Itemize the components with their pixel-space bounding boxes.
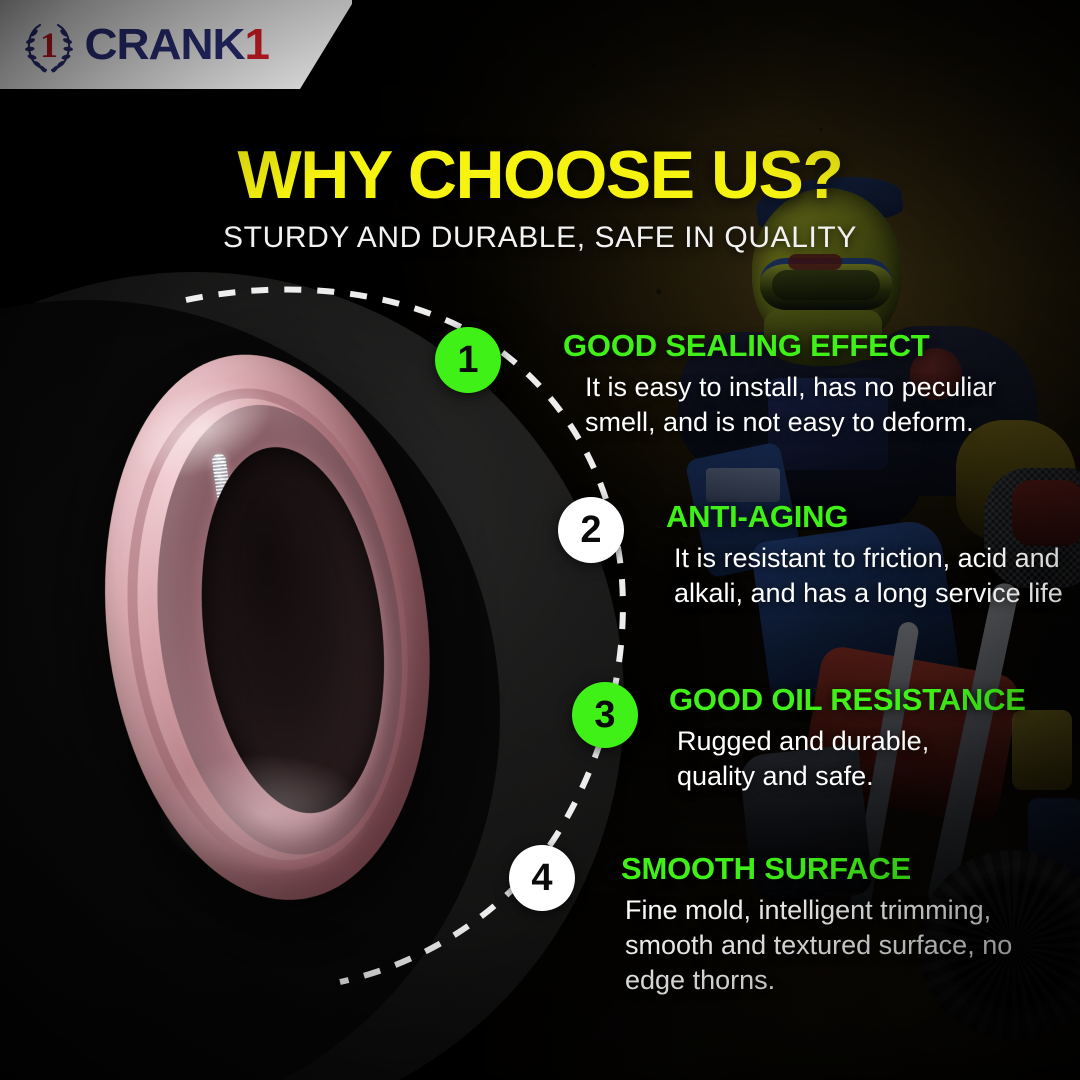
laurel-wreath-icon: 1 <box>18 17 80 73</box>
page-subtitle: STURDY AND DURABLE, SAFE IN QUALITY <box>0 221 1080 255</box>
logo-wordmark-main: CRANK <box>84 20 244 69</box>
feature-block-1: GOOD SEALING EFFECT It is easy to instal… <box>563 328 1033 440</box>
feature-body-1: It is easy to install, has no peculiar s… <box>563 364 1033 440</box>
feature-badge-4[interactable]: 4 <box>509 845 575 911</box>
feature-badge-1[interactable]: 1 <box>435 327 501 393</box>
feature-body-3: Rugged and durable, quality and safe. <box>669 718 969 794</box>
logo-wordmark-accent: 1 <box>244 20 268 69</box>
feature-badge-3[interactable]: 3 <box>572 682 638 748</box>
feature-heading-2: ANTI-AGING <box>666 499 1066 535</box>
page-title: WHY CHOOSE US? <box>0 136 1080 214</box>
logo-number-one: 1 <box>18 17 80 73</box>
feature-block-3: GOOD OIL RESISTANCE Rugged and durable, … <box>669 682 1069 794</box>
product-oil-seal-ring <box>75 333 481 930</box>
feature-block-4: SMOOTH SURFACE Fine mold, intelligent tr… <box>621 851 1051 998</box>
feature-heading-1: GOOD SEALING EFFECT <box>563 328 1033 364</box>
feature-body-4: Fine mold, intelligent trimming, smooth … <box>621 887 1029 998</box>
feature-heading-3: GOOD OIL RESISTANCE <box>669 682 1069 718</box>
feature-block-2: ANTI-AGING It is resistant to friction, … <box>666 499 1066 611</box>
brand-logo[interactable]: 1 CRANK1 <box>18 17 265 73</box>
feature-badge-2[interactable]: 2 <box>558 497 624 563</box>
feature-heading-4: SMOOTH SURFACE <box>621 851 1051 887</box>
infographic-canvas: 1 CRANK1 WHY CHOOSE US? STURDY AND DURAB… <box>0 0 1080 1080</box>
feature-body-2: It is resistant to friction, acid and al… <box>666 535 1066 611</box>
logo-wordmark: CRANK1 <box>84 23 268 67</box>
